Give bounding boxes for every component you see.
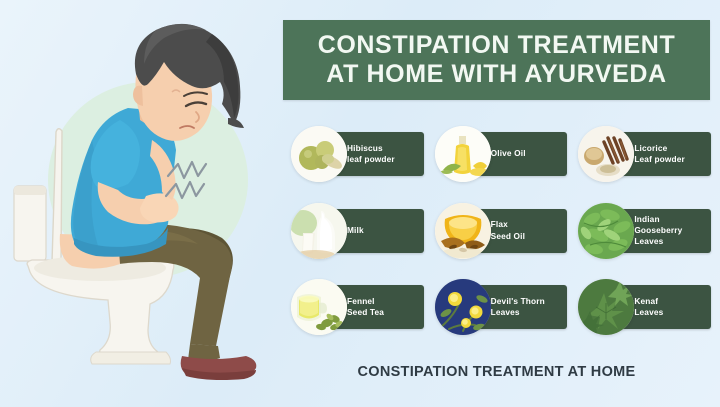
- remedy-label: Milk: [347, 225, 364, 236]
- milk-bottle-icon: [291, 203, 347, 259]
- footer-caption: CONSTIPATION TREATMENT AT HOME: [283, 364, 710, 380]
- remedy-label: Fennel Seed Tea: [347, 296, 384, 318]
- remedy-grid: Hibiscus leaf powder Olive Oil: [291, 126, 715, 348]
- hibiscus-powder-icon: [291, 126, 347, 182]
- infographic-root: CONSTIPATION TREATMENT AT HOME WITH AYUR…: [0, 0, 720, 407]
- licorice-root-icon: [578, 126, 634, 182]
- remedy-item-hibiscus-leaf-powder[interactable]: Hibiscus leaf powder: [291, 126, 428, 184]
- remedy-label: Olive Oil: [491, 148, 526, 159]
- remedy-item-kenaf-leaves[interactable]: Kenaf Leaves: [578, 279, 715, 337]
- remedy-label: Kenaf Leaves: [634, 296, 663, 318]
- remedy-item-flax-seed-oil[interactable]: Flax Seed Oil: [435, 203, 572, 261]
- title-banner: CONSTIPATION TREATMENT AT HOME WITH AYUR…: [283, 20, 710, 100]
- remedy-label: Hibiscus leaf powder: [347, 143, 395, 165]
- remedy-item-fennel-seed-tea[interactable]: Fennel Seed Tea: [291, 279, 428, 337]
- devils-thorn-flower-icon: [435, 279, 491, 335]
- remedy-item-licorice-leaf-powder[interactable]: Licorice Leaf powder: [578, 126, 715, 184]
- title-line-2: AT HOME WITH AYURVEDA: [326, 60, 666, 90]
- remedy-label: Licorice Leaf powder: [634, 143, 685, 165]
- gooseberry-leaves-icon: [578, 203, 634, 259]
- remedy-item-devils-thorn-leaves[interactable]: Devil's Thorn Leaves: [435, 279, 572, 337]
- remedy-label: Devil's Thorn Leaves: [491, 296, 545, 318]
- remedy-label: Indian Gooseberry Leaves: [634, 214, 682, 248]
- title-line-1: CONSTIPATION TREATMENT: [318, 31, 676, 61]
- toilet-tank: [14, 186, 46, 261]
- remedy-item-milk[interactable]: Milk: [291, 203, 428, 261]
- remedy-item-olive-oil[interactable]: Olive Oil: [435, 126, 572, 184]
- constipation-illustration: [0, 0, 290, 407]
- fennel-tea-icon: [291, 279, 347, 335]
- remedy-item-indian-gooseberry-leaves[interactable]: Indian Gooseberry Leaves: [578, 203, 715, 261]
- flax-seed-oil-icon: [435, 203, 491, 259]
- olive-oil-icon: [435, 126, 491, 182]
- remedy-label: Flax Seed Oil: [491, 219, 525, 241]
